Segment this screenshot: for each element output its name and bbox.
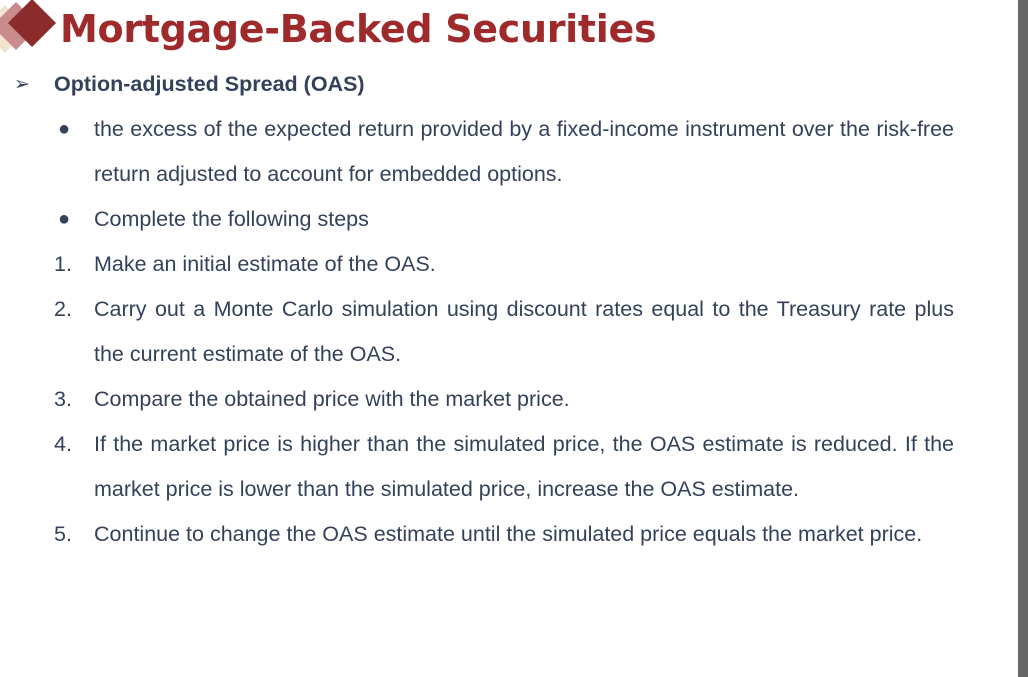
diamond-logo <box>0 0 62 62</box>
bullet-item-option-adjusted-spread: ➢ Option-adjusted Spread (OAS) <box>0 62 1018 107</box>
round-bullet-icon: ● <box>58 107 70 152</box>
list-item-text: Compare the obtained price with the mark… <box>94 387 570 411</box>
round-bullet-icon: ● <box>58 197 70 242</box>
numbered-item-2: 2. Carry out a Monte Carlo simulation us… <box>0 287 1018 377</box>
bullet-text: Complete the following steps <box>94 207 369 231</box>
list-item-text: Continue to change the OAS estimate unti… <box>94 522 922 546</box>
bullet-item-oas-definition: ● the excess of the expected return prov… <box>0 107 1018 197</box>
slide-body: ➢ Option-adjusted Spread (OAS) ● the exc… <box>0 62 1018 557</box>
bullet-item-complete-steps: ● Complete the following steps <box>0 197 1018 242</box>
slide-title: Mortgage-Backed Securities <box>60 3 656 56</box>
bullet-text: Option-adjusted Spread (OAS) <box>54 72 365 96</box>
list-number: 5. <box>54 512 88 557</box>
list-item-text: Carry out a Monte Carlo simulation using… <box>94 297 954 366</box>
numbered-item-5: 5. Continue to change the OAS estimate u… <box>0 512 1018 557</box>
list-number: 4. <box>54 422 88 467</box>
list-number: 2. <box>54 287 88 332</box>
list-number: 3. <box>54 377 88 422</box>
slide-canvas: Mortgage-Backed Securities ➢ Option-adju… <box>0 0 1018 677</box>
numbered-item-1: 1. Make an initial estimate of the OAS. <box>0 242 1018 287</box>
right-edge-scrollbar[interactable] <box>1018 0 1028 677</box>
arrow-bullet-icon: ➢ <box>14 62 30 107</box>
numbered-item-4: 4. If the market price is higher than th… <box>0 422 1018 512</box>
list-item-text: Make an initial estimate of the OAS. <box>94 252 436 276</box>
bullet-text: the excess of the expected return provid… <box>94 117 954 186</box>
list-item-text: If the market price is higher than the s… <box>94 432 954 501</box>
list-number: 1. <box>54 242 88 287</box>
slide-title-row: Mortgage-Backed Securities <box>0 0 1018 62</box>
numbered-item-3: 3. Compare the obtained price with the m… <box>0 377 1018 422</box>
